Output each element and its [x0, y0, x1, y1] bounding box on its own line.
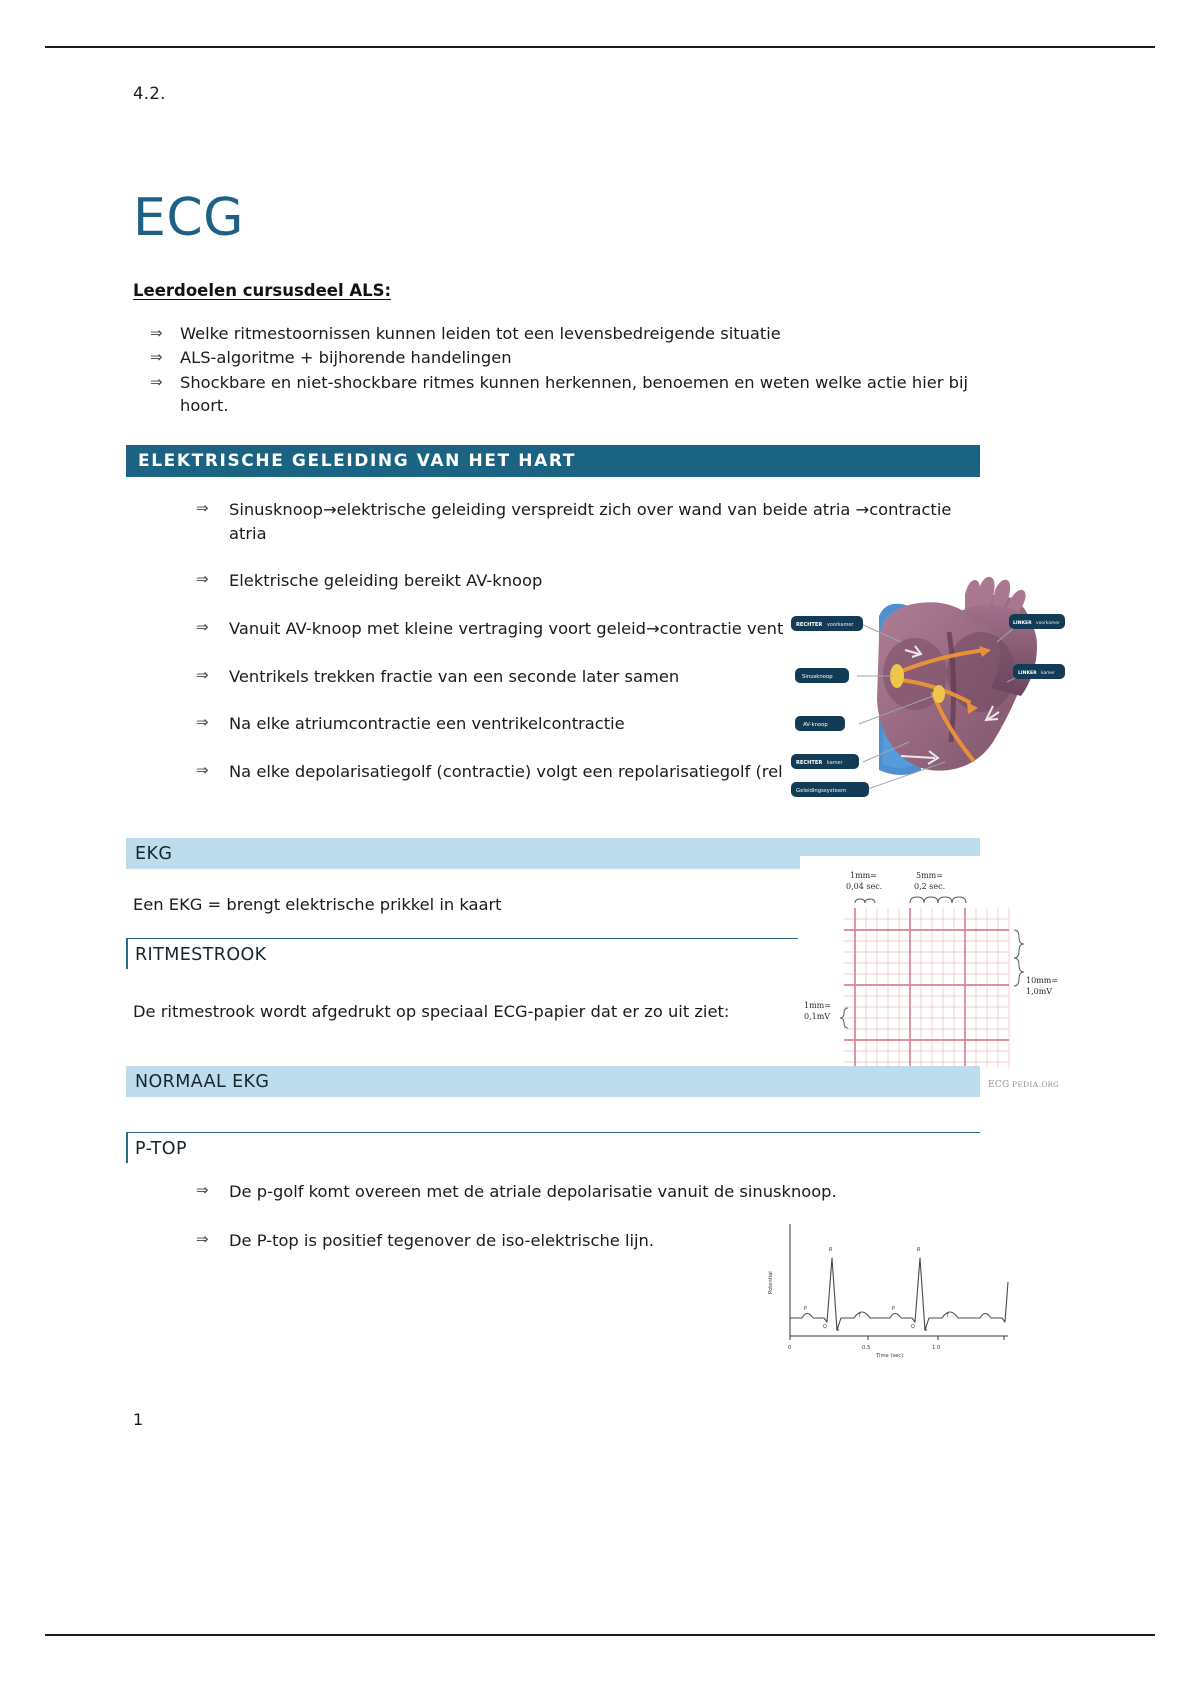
list-item-label: ALS-algoritme + bijhorende handelingen	[180, 346, 970, 369]
svg-text:0: 0	[788, 1345, 791, 1351]
svg-text:5mm=: 5mm=	[916, 871, 943, 880]
svg-text:1mm=: 1mm=	[850, 871, 877, 880]
svg-text:voorkamer: voorkamer	[827, 622, 854, 628]
footer-rule	[45, 1634, 1155, 1636]
section-banner-conduction: ELEKTRISCHE GELEIDING VAN HET HART	[126, 445, 980, 477]
list-item: ⇒ De p-golf komt overeen met de atriale …	[196, 1180, 976, 1204]
arrow-bullet-icon: ⇒	[196, 498, 213, 545]
svg-text:Potential: Potential	[768, 1271, 774, 1294]
svg-text:AV-knoop: AV-knoop	[803, 722, 828, 728]
list-item-label: Vanuit AV-knoop met kleine vertraging vo…	[229, 617, 826, 641]
list-item-label: Na elke depolarisatiegolf (contractie) v…	[229, 760, 845, 784]
svg-text:10mm=: 10mm=	[1026, 976, 1058, 985]
list-item-label: Ventrikels trekken fractie van een secon…	[229, 665, 679, 689]
svg-text:S: S	[836, 1327, 839, 1333]
ekg-paragraph: Een EKG = brengt elektrische prikkel in …	[133, 893, 773, 917]
objectives-list: ⇒ Welke ritmestoornissen kunnen leiden t…	[150, 322, 970, 419]
header-rule	[45, 46, 1155, 48]
list-item-label: Welke ritmestoornissen kunnen leiden tot…	[180, 322, 970, 345]
list-item-label: De P-top is positief tegenover de iso-el…	[229, 1229, 654, 1253]
svg-text:RECHTER: RECHTER	[796, 760, 822, 766]
svg-text:ECG: ECG	[988, 1080, 1010, 1090]
list-item-label: Elektrische geleiding bereikt AV-knoop	[229, 569, 542, 593]
svg-text:kamer: kamer	[1041, 670, 1055, 676]
section-heading-ritmestrook: RITMESTROOK	[126, 938, 798, 965]
list-item: ⇒ Shockbare en niet-shockbare ritmes kun…	[150, 371, 970, 418]
svg-text:RECHTER: RECHTER	[796, 622, 822, 628]
arrow-bullet-icon: ⇒	[150, 322, 166, 345]
page-number: 1	[133, 1410, 143, 1429]
arrow-bullet-icon: ⇒	[196, 665, 213, 689]
arrow-bullet-icon: ⇒	[196, 712, 213, 736]
arrow-bullet-icon: ⇒	[196, 617, 213, 641]
arrow-bullet-icon: ⇒	[150, 346, 166, 369]
svg-text:0,2 sec.: 0,2 sec.	[914, 882, 945, 891]
svg-text:Geleidingssysteem: Geleidingssysteem	[796, 788, 846, 794]
arrow-bullet-icon: ⇒	[196, 1180, 213, 1204]
svg-text:Q: Q	[911, 1324, 915, 1330]
arrow-bullet-icon: ⇒	[196, 760, 213, 784]
list-item-label: Sinusknoop→elektrische geleiding verspre…	[229, 498, 956, 545]
svg-text:1mm=: 1mm=	[804, 1001, 831, 1010]
arrow-bullet-icon: ⇒	[196, 569, 213, 593]
svg-text:0.5: 0.5	[862, 1345, 870, 1351]
list-item: ⇒ Sinusknoop→elektrische geleiding versp…	[196, 498, 956, 545]
objectives-heading: Leerdoelen cursusdeel ALS:	[133, 281, 391, 300]
svg-text:0,1mV: 0,1mV	[804, 1012, 830, 1021]
svg-text:S: S	[924, 1327, 927, 1333]
svg-text:PEDIA: PEDIA	[1012, 1080, 1039, 1089]
svg-text:voorkamer: voorkamer	[1036, 620, 1060, 626]
page-title: ECG	[133, 192, 244, 244]
svg-text:.ORG: .ORG	[1039, 1081, 1059, 1089]
section-heading-normaal-ekg: NORMAAL EKG	[126, 1066, 980, 1097]
svg-text:LINKER: LINKER	[1018, 670, 1037, 676]
svg-text:R: R	[917, 1247, 921, 1253]
heart-anatomy-figure: RECHTER voorkamer Sinusknoop AV-knoop RE…	[783, 576, 1065, 808]
svg-text:Sinusknoop: Sinusknoop	[802, 674, 833, 680]
svg-text:1.0: 1.0	[932, 1345, 940, 1351]
svg-text:Time (sec): Time (sec)	[875, 1353, 903, 1358]
document-page: 4.2. ECG Leerdoelen cursusdeel ALS: ⇒ We…	[0, 0, 1200, 1700]
list-item: ⇒ Welke ritmestoornissen kunnen leiden t…	[150, 322, 970, 345]
svg-text:P: P	[804, 1306, 807, 1312]
list-item: ⇒ ALS-algoritme + bijhorende handelingen	[150, 346, 970, 369]
header-section-number: 4.2.	[133, 84, 166, 103]
ritmestrook-paragraph: De ritmestrook wordt afgedrukt op specia…	[133, 1000, 763, 1024]
svg-text:kamer: kamer	[827, 760, 844, 766]
svg-text:R: R	[829, 1247, 833, 1253]
arrow-bullet-icon: ⇒	[150, 371, 166, 418]
ecg-waveform-figure: P Q R S T P Q R S T 0 0.5 1.0 Time (sec)…	[758, 1218, 1020, 1358]
list-item-label: De p-golf komt overeen met de atriale de…	[229, 1180, 837, 1204]
svg-text:Q: Q	[823, 1324, 827, 1330]
section-heading-ptop: P-TOP	[126, 1132, 980, 1159]
list-item-label: Shockbare en niet-shockbare ritmes kunne…	[180, 371, 970, 418]
list-item-label: Na elke atriumcontractie een ventrikelco…	[229, 712, 625, 736]
svg-text:0,04 sec.: 0,04 sec.	[846, 882, 882, 891]
ecg-paper-figure: 1mm= 0,04 sec. 5mm= 0,2 sec. 1mm= 0,1mV …	[800, 856, 1068, 1096]
svg-text:LINKER: LINKER	[1013, 620, 1032, 626]
arrow-bullet-icon: ⇒	[196, 1229, 213, 1253]
svg-text:1,0mV: 1,0mV	[1026, 987, 1052, 996]
svg-text:P: P	[892, 1306, 895, 1312]
